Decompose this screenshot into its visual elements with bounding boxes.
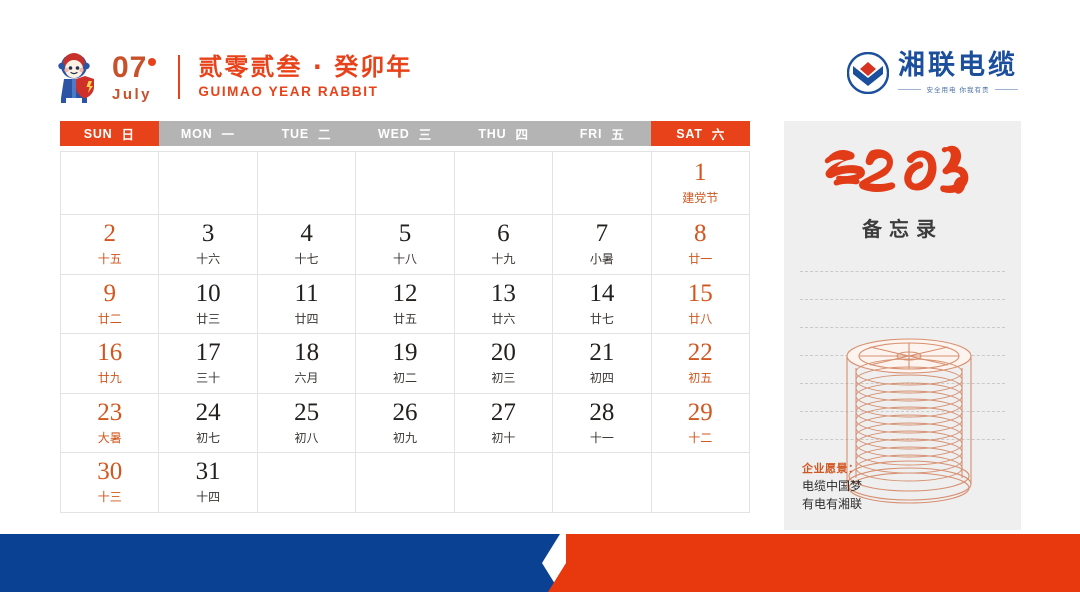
month-block: 07 July	[112, 53, 156, 102]
day-number: 4	[300, 221, 313, 247]
day-cell[interactable]: 8廿一	[652, 215, 750, 275]
day-lunar: 十五	[98, 250, 122, 267]
day-cell[interactable]: 19初二	[356, 334, 454, 394]
day-number: 12	[392, 281, 417, 307]
day-number: 17	[196, 340, 221, 366]
month-number: 07	[112, 53, 156, 83]
day-cell-empty	[455, 453, 553, 513]
day-cell[interactable]: 5十八	[356, 215, 454, 275]
day-lunar: 廿一	[688, 250, 712, 267]
weekday-en: WED	[378, 127, 410, 141]
day-number: 22	[688, 340, 713, 366]
brand-slogan: 安全用电 你我有责	[926, 84, 989, 94]
day-number: 5	[399, 221, 412, 247]
day-number: 29	[688, 400, 713, 426]
day-cell[interactable]: 2十五	[61, 215, 159, 275]
day-cell-empty	[553, 453, 651, 513]
day-cell[interactable]: 4十七	[258, 215, 356, 275]
vision-label: 企业愿景：	[802, 461, 862, 478]
month-number-text: 07	[112, 51, 147, 84]
footer-right-block	[548, 534, 1080, 592]
day-number: 3	[202, 221, 215, 247]
company-vision: 企业愿景： 电缆中国梦 有电有湘联	[802, 461, 862, 514]
brand-logo: 湘联电缆 安全用电 你我有责	[847, 52, 1018, 94]
calendar-grid: SUN日MON一TUE二WED三THU四FRI五SAT六 1建党节2十五3十六4…	[60, 121, 750, 513]
day-cell-empty	[61, 152, 159, 215]
weekday-cn: 六	[712, 124, 725, 143]
day-lunar: 三十	[196, 369, 220, 386]
day-cell[interactable]: 26初九	[356, 394, 454, 454]
weekday-en: SUN	[84, 127, 113, 141]
day-number: 7	[596, 221, 609, 247]
day-cell[interactable]: 31十四	[159, 453, 257, 513]
day-lunar: 廿八	[688, 310, 712, 327]
vision-line-2: 有电有湘联	[802, 495, 862, 513]
day-lunar: 廿九	[98, 369, 122, 386]
day-cell-empty	[356, 453, 454, 513]
day-lunar: 十六	[196, 250, 220, 267]
weekday-header-wed: WED三	[356, 121, 455, 146]
weekday-header-thu: THU四	[454, 121, 553, 146]
weekday-header-mon: MON一	[159, 121, 258, 146]
memo-panel: 备忘录	[784, 121, 1021, 530]
day-number: 30	[97, 459, 122, 485]
day-cell[interactable]: 16廿九	[61, 334, 159, 394]
weekday-cn: 日	[122, 124, 135, 143]
day-cell[interactable]: 24初七	[159, 394, 257, 454]
day-number: 27	[491, 400, 516, 426]
calendar-header: 07 July 贰零贰叁 · 癸卯年 GUIMAO YEAR RABBIT	[52, 46, 412, 108]
day-lunar: 初四	[590, 369, 614, 386]
day-cell[interactable]: 14廿七	[553, 275, 651, 335]
day-number: 26	[392, 400, 417, 426]
weekday-en: THU	[478, 127, 506, 141]
day-number: 20	[491, 340, 516, 366]
calendar-page: 07 July 贰零贰叁 · 癸卯年 GUIMAO YEAR RABBIT 湘联…	[0, 0, 1080, 592]
weekday-cn: 三	[419, 124, 432, 143]
brand-slogan-row: 安全用电 你我有责	[898, 84, 1018, 94]
day-cell[interactable]: 6十九	[455, 215, 553, 275]
day-number: 9	[103, 281, 116, 307]
header-divider	[178, 55, 180, 99]
day-number: 11	[295, 281, 319, 307]
day-cell[interactable]: 7小暑	[553, 215, 651, 275]
day-number: 23	[97, 400, 122, 426]
day-number: 16	[97, 340, 122, 366]
day-cell[interactable]: 12廿五	[356, 275, 454, 335]
day-cell-empty	[258, 152, 356, 215]
year-calligraphy-2023	[784, 135, 1021, 207]
day-cell[interactable]: 1建党节	[652, 152, 750, 215]
day-cell[interactable]: 10廿三	[159, 275, 257, 335]
day-lunar: 六月	[295, 369, 319, 386]
day-cell-empty	[553, 152, 651, 215]
day-number: 21	[589, 340, 614, 366]
brand-text: 湘联电缆 安全用电 你我有责	[898, 52, 1018, 94]
weekday-header-row: SUN日MON一TUE二WED三THU四FRI五SAT六	[60, 121, 750, 146]
day-lunar: 廿五	[393, 310, 417, 327]
day-number: 8	[694, 221, 707, 247]
footer-left-block	[0, 534, 560, 592]
xianglian-diamond-logo-icon	[847, 52, 889, 94]
day-lunar: 初二	[393, 369, 417, 386]
day-cell[interactable]: 21初四	[553, 334, 651, 394]
day-cell[interactable]: 27初十	[455, 394, 553, 454]
day-cell[interactable]: 9廿二	[61, 275, 159, 335]
day-number: 24	[196, 400, 221, 426]
day-number: 1	[694, 160, 707, 186]
day-number: 2	[103, 221, 116, 247]
day-cell[interactable]: 3十六	[159, 215, 257, 275]
day-cell[interactable]: 15廿八	[652, 275, 750, 335]
weekday-en: MON	[181, 127, 213, 141]
day-lunar: 廿七	[590, 310, 614, 327]
day-lunar: 廿六	[491, 310, 515, 327]
day-cell[interactable]: 30十三	[61, 453, 159, 513]
weekday-cn: 二	[318, 124, 331, 143]
day-number: 14	[589, 281, 614, 307]
day-lunar: 十二	[688, 429, 712, 446]
day-lunar: 初十	[491, 429, 515, 446]
brand-rule-left	[898, 89, 921, 90]
day-cell[interactable]: 25初八	[258, 394, 356, 454]
weekday-en: TUE	[282, 127, 309, 141]
day-number: 6	[497, 221, 510, 247]
day-cell-empty	[652, 453, 750, 513]
day-cell-empty	[258, 453, 356, 513]
day-lunar: 初五	[688, 369, 712, 386]
day-cell[interactable]: 29十二	[652, 394, 750, 454]
month-name: July	[112, 87, 152, 102]
day-lunar: 初九	[393, 429, 417, 446]
brand-name: 湘联电缆	[898, 52, 1018, 79]
memo-title: 备忘录	[784, 213, 1021, 242]
year-block: 贰零贰叁 · 癸卯年 GUIMAO YEAR RABBIT	[198, 55, 412, 99]
day-cell[interactable]: 23大暑	[61, 394, 159, 454]
day-lunar: 十九	[491, 250, 515, 267]
memo-line[interactable]	[800, 299, 1005, 300]
day-lunar: 十一	[590, 429, 614, 446]
day-lunar: 廿三	[196, 310, 220, 327]
day-number: 13	[491, 281, 516, 307]
day-cell[interactable]: 28十一	[553, 394, 651, 454]
day-number: 10	[196, 281, 221, 307]
day-lunar: 初三	[491, 369, 515, 386]
footer-bar	[0, 534, 1080, 592]
day-lunar: 十八	[393, 250, 417, 267]
memo-line[interactable]	[800, 271, 1005, 272]
day-lunar: 小暑	[590, 250, 614, 267]
day-cell[interactable]: 17三十	[159, 334, 257, 394]
year-chinese: 贰零贰叁 · 癸卯年	[198, 55, 412, 79]
day-festival: 建党节	[682, 189, 718, 206]
day-cell[interactable]: 13廿六	[455, 275, 553, 335]
mascot-guard-icon	[52, 50, 102, 104]
day-number: 28	[589, 400, 614, 426]
weekday-header-tue: TUE二	[257, 121, 356, 146]
day-cell-empty	[356, 152, 454, 215]
weekday-cn: 四	[515, 124, 528, 143]
weekday-cn: 一	[221, 124, 234, 143]
day-cell[interactable]: 18六月	[258, 334, 356, 394]
weekday-en: FRI	[580, 127, 603, 141]
day-cell-empty	[455, 152, 553, 215]
day-lunar: 初八	[295, 429, 319, 446]
weekday-header-fri: FRI五	[553, 121, 652, 146]
weekday-header-sun: SUN日	[60, 121, 159, 146]
weekday-cn: 五	[611, 124, 624, 143]
day-cell[interactable]: 22初五	[652, 334, 750, 394]
month-dot-icon	[148, 58, 156, 66]
day-number: 18	[294, 340, 319, 366]
day-lunar: 廿四	[295, 310, 319, 327]
day-cell[interactable]: 11廿四	[258, 275, 356, 335]
day-cell-empty	[159, 152, 257, 215]
year-english: GUIMAO YEAR RABBIT	[198, 85, 412, 99]
weekday-header-sat: SAT六	[651, 121, 750, 146]
day-number: 15	[688, 281, 713, 307]
day-grid: 1建党节2十五3十六4十七5十八6十九7小暑8廿一9廿二10廿三11廿四12廿五…	[60, 151, 750, 513]
day-cell[interactable]: 20初三	[455, 334, 553, 394]
day-lunar: 廿二	[98, 310, 122, 327]
weekday-en: SAT	[676, 127, 702, 141]
day-lunar: 十三	[98, 488, 122, 505]
day-lunar: 大暑	[98, 429, 122, 446]
day-lunar: 十四	[196, 488, 220, 505]
day-lunar: 十七	[295, 250, 319, 267]
day-number: 19	[392, 340, 417, 366]
vision-line-1: 电缆中国梦	[802, 477, 862, 495]
brand-rule-right	[995, 89, 1018, 90]
day-number: 31	[196, 459, 221, 485]
day-lunar: 初七	[196, 429, 220, 446]
day-number: 25	[294, 400, 319, 426]
